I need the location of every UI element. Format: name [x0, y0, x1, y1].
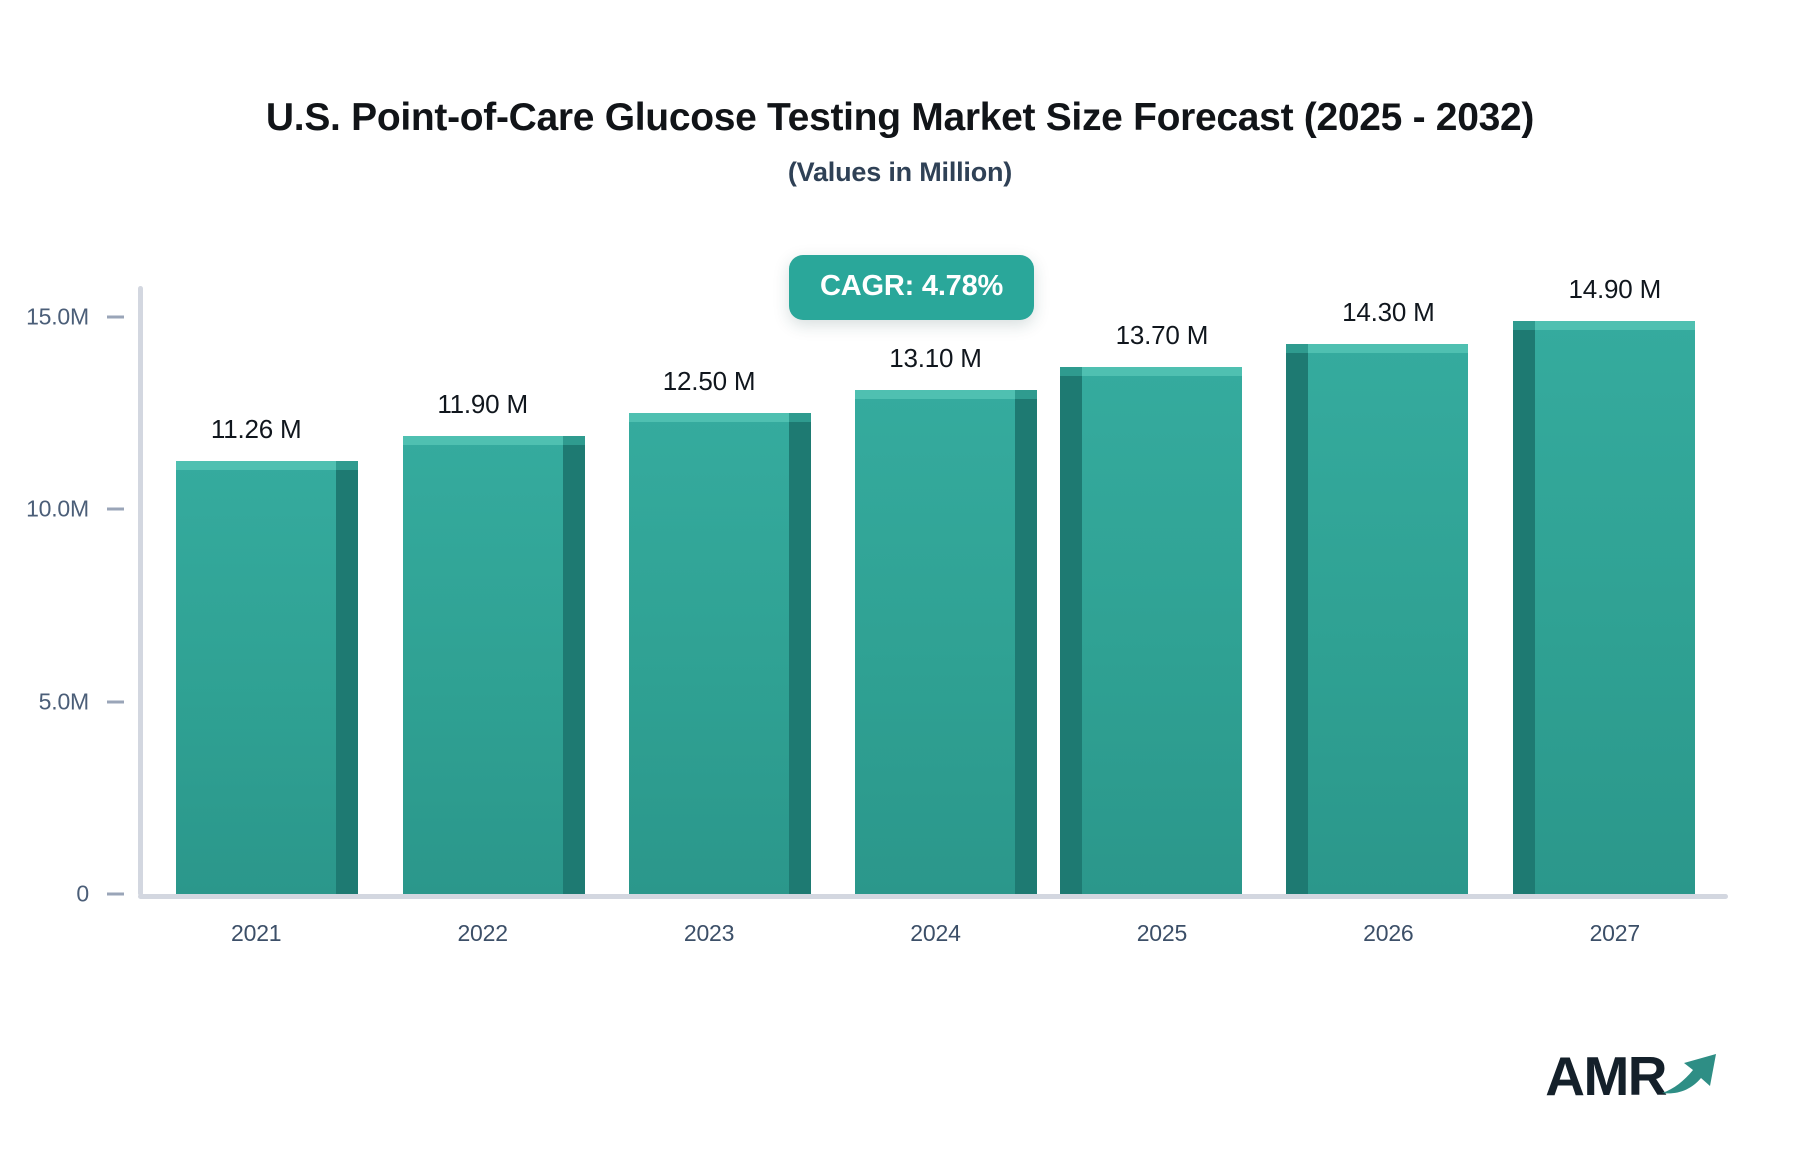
bar-side-cap [563, 436, 585, 445]
bar[interactable] [1308, 344, 1468, 894]
bar-front-face [855, 390, 1015, 894]
y-tick: 15.0M [26, 303, 138, 330]
x-tick-label: 2024 [822, 920, 1048, 947]
y-tick-label: 15.0M [26, 303, 89, 330]
bar-side-cap [1015, 390, 1037, 399]
bar-group: 13.10 M [822, 286, 1048, 894]
x-tick-label: 2021 [143, 920, 369, 947]
bar-side-face [563, 445, 585, 894]
bar-top-face [176, 461, 336, 470]
amr-logo: AMR [1545, 1049, 1722, 1104]
x-axis-ticks: 2021202220232024202520262027 [143, 906, 1728, 952]
bar-top-face [855, 390, 1015, 399]
bar-side-face [1286, 353, 1308, 894]
bar-front-face [1082, 367, 1242, 894]
x-axis-line [138, 894, 1728, 899]
y-tick-label: 0 [76, 881, 89, 908]
cagr-badge: CAGR: 4.78% [789, 255, 1034, 320]
bar-side-face [336, 470, 358, 894]
bar-value-label: 14.30 M [1342, 297, 1435, 328]
bar[interactable] [1535, 321, 1695, 894]
bar-top-face [1308, 344, 1468, 353]
y-tick-dash [107, 700, 124, 703]
trend-up-arrow-icon [1660, 1049, 1722, 1102]
bar[interactable] [403, 436, 563, 894]
x-tick-label: 2025 [1049, 920, 1275, 947]
plot-area: 15.0M10.0M5.0M0 11.26 M11.90 M12.50 M13.… [138, 286, 1728, 896]
bar-top-face [1082, 367, 1242, 376]
bar-side-cap [1060, 367, 1082, 376]
bar[interactable] [629, 413, 789, 894]
bar-side-face [1513, 330, 1535, 894]
y-tick-dash [107, 893, 124, 896]
bar-group: 14.30 M [1275, 286, 1501, 894]
bar-side-face [1015, 399, 1037, 894]
bar-side-cap [789, 413, 811, 422]
x-tick-label: 2023 [596, 920, 822, 947]
bar-front-face [629, 413, 789, 894]
bar-group: 14.90 M [1502, 286, 1728, 894]
bar-side-cap [1286, 344, 1308, 353]
bar-value-label: 14.90 M [1568, 274, 1661, 305]
y-tick: 5.0M [39, 688, 138, 715]
bar-side-cap [336, 461, 358, 470]
title-block: U.S. Point-of-Care Glucose Testing Marke… [0, 96, 1800, 188]
y-tick: 0 [76, 881, 138, 908]
x-tick-label: 2026 [1275, 920, 1501, 947]
page-subtitle: (Values in Million) [0, 157, 1800, 188]
x-tick-label: 2022 [369, 920, 595, 947]
bar-top-face [629, 413, 789, 422]
bar[interactable] [1082, 367, 1242, 894]
bar-group: 13.70 M [1049, 286, 1275, 894]
amr-wordmark: AMR [1545, 1049, 1666, 1104]
bar-side-cap [1513, 321, 1535, 330]
y-tick-dash [107, 315, 124, 318]
bar-value-label: 11.26 M [211, 414, 302, 445]
bar-side-face [789, 422, 811, 894]
bar-front-face [176, 461, 336, 894]
bar-group: 11.26 M [143, 286, 369, 894]
bar-front-face [1535, 321, 1695, 894]
bar-series: 11.26 M11.90 M12.50 M13.10 M13.70 M14.30… [143, 286, 1728, 894]
bar[interactable] [855, 390, 1015, 894]
bar-front-face [1308, 344, 1468, 894]
bar-side-face [1060, 376, 1082, 894]
bar-front-face [403, 436, 563, 894]
bar-value-label: 12.50 M [663, 366, 756, 397]
bar-top-face [403, 436, 563, 445]
bar-value-label: 11.90 M [437, 389, 528, 420]
chart-page: U.S. Point-of-Care Glucose Testing Marke… [0, 0, 1800, 1156]
x-tick-label: 2027 [1502, 920, 1728, 947]
bar-top-face [1535, 321, 1695, 330]
y-tick-label: 10.0M [26, 496, 89, 523]
page-title: U.S. Point-of-Care Glucose Testing Marke… [0, 96, 1800, 141]
bar-value-label: 13.70 M [1116, 320, 1209, 351]
bar[interactable] [176, 461, 336, 894]
y-tick-dash [107, 508, 124, 511]
y-tick-label: 5.0M [39, 688, 89, 715]
y-tick: 10.0M [26, 496, 138, 523]
bar-group: 11.90 M [369, 286, 595, 894]
bar-group: 12.50 M [596, 286, 822, 894]
y-axis-ticks: 15.0M10.0M5.0M0 [0, 286, 138, 896]
bar-value-label: 13.10 M [889, 343, 982, 374]
